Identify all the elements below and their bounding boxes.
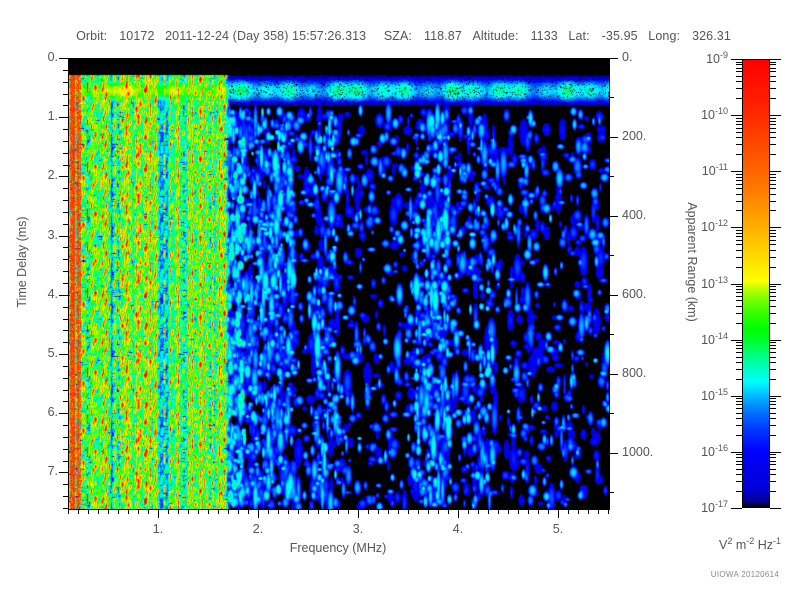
axis-tick <box>770 418 776 419</box>
axis-tick <box>770 210 776 211</box>
colorbar-tick-label: 10-11 <box>684 162 728 178</box>
axis-tick <box>736 469 742 470</box>
colorbar-tick-label: 10-12 <box>684 218 728 234</box>
axis-tick <box>736 401 742 402</box>
axis-tick <box>736 81 742 82</box>
axis-tick <box>770 313 776 314</box>
axis-tick <box>770 464 776 465</box>
axis-tick <box>770 340 781 341</box>
colorbar-unit-label: V2 m-2 Hz-1 <box>700 536 800 552</box>
axis-tick <box>736 413 742 414</box>
axis-tick <box>736 464 742 465</box>
axis-tick <box>736 474 742 475</box>
axis-tick <box>770 124 776 125</box>
axis-tick <box>770 171 781 172</box>
colorbar-tick-label: 10-14 <box>684 331 728 347</box>
axis-tick <box>736 348 742 349</box>
axis-tick <box>770 296 776 297</box>
axis-tick <box>770 59 781 60</box>
axis-tick <box>770 408 776 409</box>
axis-tick <box>770 345 776 346</box>
axis-tick <box>736 362 742 363</box>
axis-tick <box>736 180 742 181</box>
axis-tick <box>770 404 776 405</box>
axis-tick <box>770 369 776 370</box>
axis-tick <box>770 292 776 293</box>
axis-tick <box>736 188 742 189</box>
axis-tick <box>736 267 742 268</box>
axis-tick <box>770 118 776 119</box>
axis-tick <box>770 401 776 402</box>
axis-tick <box>736 408 742 409</box>
axis-tick <box>770 348 776 349</box>
axis-tick <box>736 177 742 178</box>
axis-tick <box>770 115 781 116</box>
axis-tick <box>736 194 742 195</box>
colorbar-tick-label: 10-16 <box>684 443 728 459</box>
axis-tick <box>736 210 742 211</box>
axis-tick <box>770 508 781 509</box>
axis-tick <box>736 461 742 462</box>
axis-tick <box>736 68 742 69</box>
axis-tick <box>736 154 742 155</box>
axis-tick <box>736 352 742 353</box>
axis-tick <box>736 457 742 458</box>
axis-tick <box>736 300 742 301</box>
axis-tick <box>770 352 776 353</box>
axis-tick <box>770 457 776 458</box>
colorbar-tick-label: 10-13 <box>684 275 728 291</box>
axis-tick <box>731 340 742 341</box>
axis-tick <box>731 227 742 228</box>
axis-tick <box>770 137 776 138</box>
axis-tick <box>736 76 742 77</box>
axis-tick <box>770 257 776 258</box>
axis-tick <box>736 201 742 202</box>
axis-tick <box>770 461 776 462</box>
axis-tick <box>770 236 776 237</box>
axis-tick <box>736 425 742 426</box>
axis-tick <box>770 188 776 189</box>
axis-tick <box>736 128 742 129</box>
axis-tick <box>731 396 742 397</box>
axis-tick <box>770 413 776 414</box>
axis-tick <box>736 257 742 258</box>
axis-tick <box>736 435 742 436</box>
axis-tick <box>736 369 742 370</box>
axis-tick <box>736 71 742 72</box>
axis-tick <box>770 425 776 426</box>
axis-tick <box>770 469 776 470</box>
axis-tick <box>736 174 742 175</box>
colorbar-tick-label: 10-9 <box>684 50 728 66</box>
axis-tick <box>770 128 776 129</box>
axis-tick <box>770 398 776 399</box>
axis-tick <box>770 180 776 181</box>
axis-tick <box>736 357 742 358</box>
axis-tick <box>736 132 742 133</box>
axis-tick <box>770 68 776 69</box>
axis-tick <box>770 64 776 65</box>
axis-tick <box>770 289 776 290</box>
axis-tick <box>731 59 742 60</box>
axis-tick <box>736 306 742 307</box>
axis-tick <box>731 171 742 172</box>
institution-credit: UIOWA 20120614 <box>690 570 800 579</box>
axis-tick <box>731 284 742 285</box>
axis-tick <box>770 250 776 251</box>
axis-tick <box>736 62 742 63</box>
axis-tick <box>770 362 776 363</box>
axis-tick <box>770 81 776 82</box>
axis-tick <box>736 289 742 290</box>
axis-tick <box>770 435 776 436</box>
axis-tick <box>736 184 742 185</box>
axis-tick <box>770 98 776 99</box>
axis-tick <box>770 62 776 63</box>
axis-tick <box>770 194 776 195</box>
axis-tick <box>770 132 776 133</box>
axis-tick <box>770 396 781 397</box>
axis-tick <box>770 452 781 453</box>
axis-tick <box>736 137 742 138</box>
axis-tick <box>770 201 776 202</box>
axis-tick <box>736 88 742 89</box>
axis-tick <box>770 244 776 245</box>
colorbar: 10-910-1010-1110-1210-1310-1410-1510-161… <box>0 0 800 600</box>
axis-tick <box>736 296 742 297</box>
axis-tick <box>770 154 776 155</box>
axis-tick <box>736 379 742 380</box>
axis-tick <box>770 174 776 175</box>
axis-tick <box>770 121 776 122</box>
axis-tick <box>770 379 776 380</box>
colorbar-tick-label: 10-15 <box>684 387 728 403</box>
axis-tick <box>736 323 742 324</box>
axis-tick <box>736 418 742 419</box>
axis-tick <box>770 481 776 482</box>
axis-tick <box>736 144 742 145</box>
axis-tick <box>770 227 781 228</box>
axis-tick <box>770 491 776 492</box>
axis-tick <box>736 481 742 482</box>
axis-tick <box>770 88 776 89</box>
axis-tick <box>736 404 742 405</box>
axis-tick <box>736 233 742 234</box>
axis-tick <box>770 71 776 72</box>
axis-tick <box>770 177 776 178</box>
axis-tick <box>770 267 776 268</box>
axis-tick <box>736 236 742 237</box>
axis-tick <box>731 452 742 453</box>
axis-tick <box>731 508 742 509</box>
axis-tick <box>736 98 742 99</box>
axis-tick <box>770 306 776 307</box>
axis-tick <box>770 342 776 343</box>
axis-tick <box>731 115 742 116</box>
axis-tick <box>736 292 742 293</box>
axis-tick <box>770 474 776 475</box>
axis-tick <box>736 240 742 241</box>
axis-tick <box>736 64 742 65</box>
axis-tick <box>736 244 742 245</box>
axis-tick <box>770 233 776 234</box>
axis-tick <box>770 323 776 324</box>
axis-tick <box>770 454 776 455</box>
axis-tick <box>736 250 742 251</box>
axis-tick <box>736 124 742 125</box>
axis-tick <box>770 76 776 77</box>
axis-tick <box>736 398 742 399</box>
axis-tick <box>770 184 776 185</box>
axis-tick <box>736 313 742 314</box>
axis-tick <box>736 342 742 343</box>
axis-tick <box>770 357 776 358</box>
axis-tick <box>736 118 742 119</box>
axis-tick <box>770 300 776 301</box>
axis-tick <box>770 230 776 231</box>
axis-tick <box>770 286 776 287</box>
axis-tick <box>770 240 776 241</box>
axis-tick <box>736 121 742 122</box>
colorbar-gradient <box>742 59 770 508</box>
axis-tick <box>736 454 742 455</box>
axis-tick <box>770 144 776 145</box>
colorbar-tick-label: 10-17 <box>684 499 728 515</box>
axis-tick <box>736 230 742 231</box>
colorbar-tick-label: 10-10 <box>684 106 728 122</box>
axis-tick <box>736 345 742 346</box>
axis-tick <box>770 284 781 285</box>
axis-tick <box>736 491 742 492</box>
axis-tick <box>736 286 742 287</box>
